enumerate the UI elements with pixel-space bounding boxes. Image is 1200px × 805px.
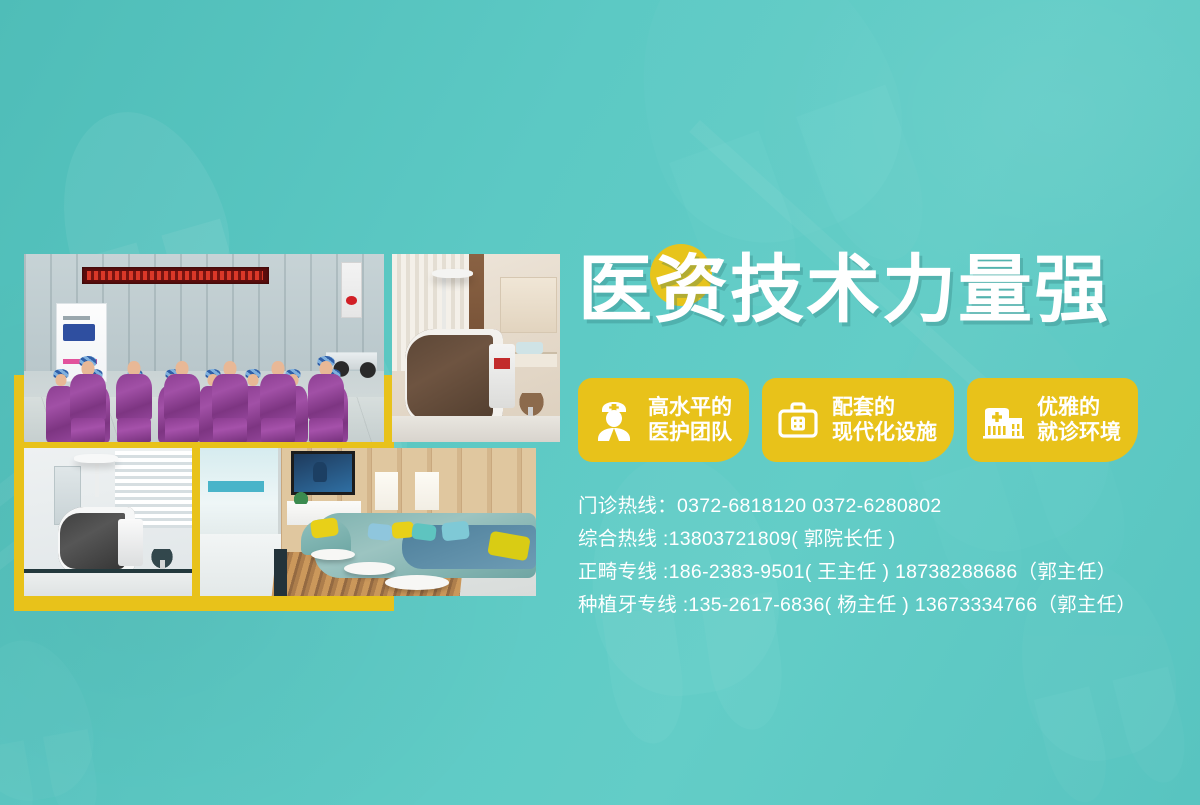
badge-line-2: 就诊环境: [1037, 421, 1121, 444]
led-sign: [82, 267, 269, 284]
badge-line-2: 医护团队: [648, 421, 732, 444]
wall-tv: [291, 451, 355, 495]
nurse-icon: [592, 396, 636, 444]
feature-badge-label: 优雅的 就诊环境: [1037, 395, 1121, 445]
contact-line-general: 综合热线 :13803721809( 郭院长任 ): [578, 523, 1178, 556]
feature-badge-modern-facilities[interactable]: 配套的 现代化设施: [762, 378, 954, 462]
tooth-watermark-icon: [0, 631, 103, 805]
badge-line-1: 配套的: [832, 396, 895, 419]
feature-badge-label: 配套的 现代化设施: [832, 395, 937, 445]
dental-treatment-room-photo: [392, 254, 560, 442]
photo-collage: [0, 236, 560, 626]
tooth-watermark-icon: [596, 0, 934, 274]
contact-line-implant: 种植牙专线 :135-2617-6836( 杨主任 ) 13673334766（…: [578, 589, 1178, 622]
dental-clinic-room-photo: [24, 448, 192, 596]
contact-line-orthodontics: 正畸专线 :186-2383-9501( 王主任 ) 18738288686（郭…: [578, 556, 1178, 589]
feature-badge-label: 高水平的 医护团队: [648, 395, 732, 445]
contact-line-outpatient: 门诊热线：0372-6818120 0372-6280802: [578, 490, 1178, 523]
contact-list: 门诊热线：0372-6818120 0372-6280802 综合热线 :138…: [578, 490, 1178, 622]
waiting-lounge-photo: [200, 448, 536, 596]
medical-team-photo: [24, 254, 384, 442]
badge-line-1: 优雅的: [1037, 396, 1100, 419]
badge-line-1: 高水平的: [648, 396, 732, 419]
medical-kit-icon: [776, 396, 820, 444]
page-title: 医资技术力量强: [578, 248, 1178, 332]
badge-line-2: 现代化设施: [832, 421, 937, 444]
hospital-building-icon: [981, 396, 1025, 444]
feature-badge-list: 高水平的 医护团队 配套的 现代化设施: [578, 378, 1178, 462]
banner-content: 医资技术力量强 高水平的 医护团队: [578, 248, 1178, 622]
title-block: 医资技术力量强: [578, 248, 1178, 352]
feature-badge-clinic-environment[interactable]: 优雅的 就诊环境: [967, 378, 1138, 462]
feature-badge-medical-team[interactable]: 高水平的 医护团队: [578, 378, 749, 462]
promotional-banner: 医资技术力量强 高水平的 医护团队: [0, 0, 1200, 805]
